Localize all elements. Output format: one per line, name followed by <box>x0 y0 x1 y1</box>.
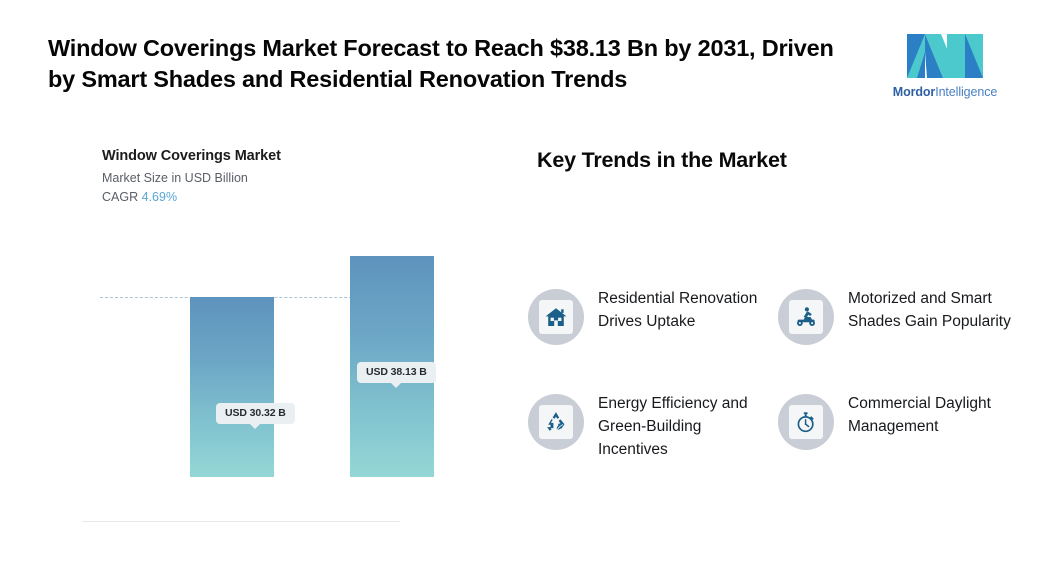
brand-wordmark-light: Intelligence <box>935 85 997 99</box>
bar-2026 <box>190 297 274 477</box>
key-trends-panel: Key Trends in the Market Residential Ren… <box>528 148 1028 488</box>
trend-badge-inner <box>789 405 823 439</box>
trend-badge-inner <box>539 405 573 439</box>
trend-item-motorized-smart-shades: Motorized and Smart Shades Gain Populari… <box>778 287 1028 392</box>
trend-badge-inner <box>539 300 573 334</box>
stopwatch-icon <box>794 410 818 434</box>
chart-subtitle: Market Size in USD Billion <box>102 171 248 185</box>
trend-badge-inner <box>789 300 823 334</box>
mordor-m-logo-icon <box>903 30 987 82</box>
atv-rider-icon <box>794 305 818 329</box>
chart-cagr-label: CAGR <box>102 190 138 204</box>
recycle-leaf-icon <box>544 410 568 434</box>
trend-badge <box>778 289 834 345</box>
trend-label: Motorized and Smart Shades Gain Populari… <box>848 287 1023 334</box>
chart-cagr: CAGR 4.69% <box>102 190 177 204</box>
page-title: Window Coverings Market Forecast to Reac… <box>48 33 838 96</box>
chart-plot-area <box>82 227 400 477</box>
chart-heading: Window Coverings Market <box>102 148 281 164</box>
trend-item-commercial-daylight: Commercial Daylight Management <box>778 392 1028 497</box>
trend-label: Residential Renovation Drives Uptake <box>598 287 773 334</box>
trend-badge <box>528 394 584 450</box>
brand-logo: MordorIntelligence <box>880 30 1010 106</box>
trend-label: Commercial Daylight Management <box>848 392 1023 439</box>
key-trends-grid: Residential Renovation Drives Uptake <box>528 287 1028 497</box>
brand-wordmark-bold: Mordor <box>893 85 935 99</box>
brand-wordmark: MordorIntelligence <box>893 85 998 99</box>
trend-label: Energy Efficiency and Green-Building Inc… <box>598 392 773 462</box>
trend-item-residential-renovation: Residential Renovation Drives Uptake <box>528 287 778 392</box>
chart-cagr-value: 4.69% <box>142 190 177 204</box>
trend-item-energy-efficiency: Energy Efficiency and Green-Building Inc… <box>528 392 778 497</box>
house-icon <box>544 305 568 329</box>
bar-value-label-2031: USD 38.13 B <box>357 362 436 383</box>
trend-badge <box>778 394 834 450</box>
key-trends-heading: Key Trends in the Market <box>537 148 787 173</box>
bar-value-label-2026: USD 30.32 B <box>216 403 295 424</box>
chart-card: Window Coverings Market Market Size in U… <box>82 132 400 522</box>
trend-badge <box>528 289 584 345</box>
infographic-page: Window Coverings Market Forecast to Reac… <box>0 0 1038 577</box>
page-header: Window Coverings Market Forecast to Reac… <box>0 0 1038 120</box>
